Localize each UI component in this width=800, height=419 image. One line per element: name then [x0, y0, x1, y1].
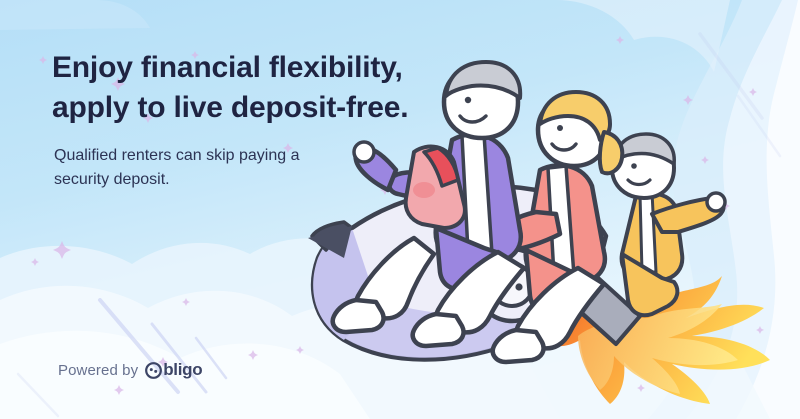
obligo-wordmark: bligo — [163, 360, 202, 380]
obligo-logo: bligo — [145, 360, 202, 380]
page-title: Enjoy financial flexibility, apply to li… — [52, 48, 472, 128]
powered-by-label: Powered by — [58, 362, 138, 379]
text-content-layer: Enjoy financial flexibility, apply to li… — [0, 0, 800, 419]
obligo-mark-icon — [145, 362, 162, 379]
powered-by-brand: Powered by bligo — [58, 360, 202, 380]
promo-banner: Enjoy financial flexibility, apply to li… — [0, 0, 800, 419]
page-subtitle: Qualified renters can skip paying a secu… — [54, 144, 384, 192]
